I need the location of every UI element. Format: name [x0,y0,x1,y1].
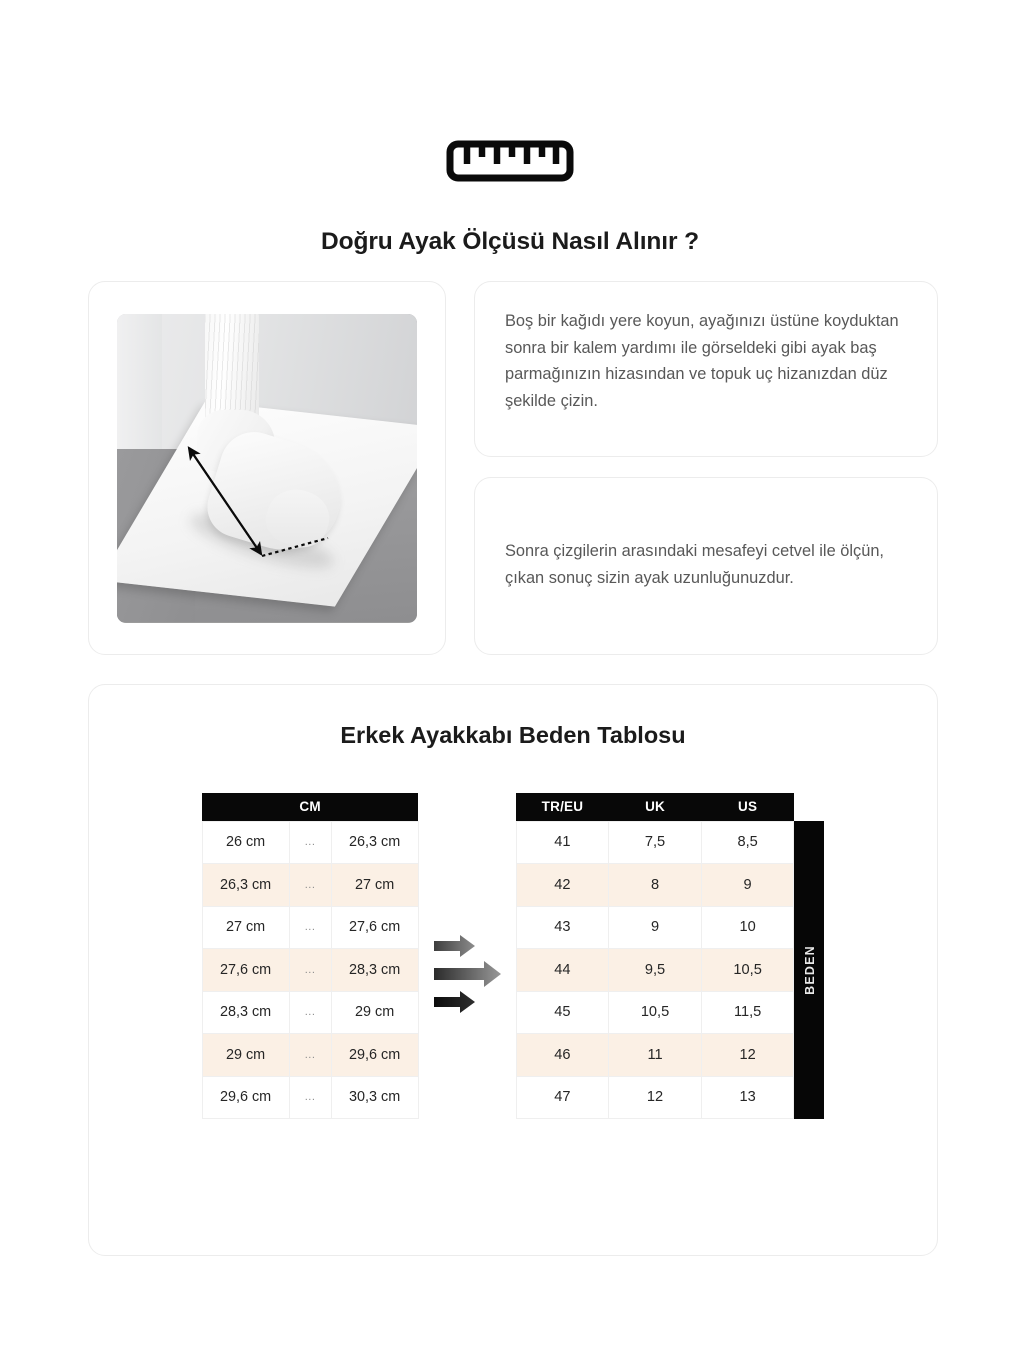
foot-measure-photo-card [88,281,446,655]
measurement-arrow-icon [117,314,417,623]
instruction-card-2: Sonra çizgilerin arasındaki mesafeyi cet… [474,477,938,655]
us-cell: 11,5 [701,991,794,1034]
cm-from-cell: 29 cm [202,1034,289,1077]
beden-vertical-bar: BEDEN [794,821,824,1119]
cm-from-cell: 29,6 cm [202,1076,289,1119]
table-row[interactable]: 27 cm ... 27,6 cm [202,906,418,949]
size-table-card: Erkek Ayakkabı Beden Tablosu CM 26 cm ..… [88,684,938,1256]
header-tr-eu: TR/EU [516,793,609,821]
size-table-body: 41 7,5 8,5 42 8 9 43 9 10 [516,821,794,1119]
cm-from-cell: 26 cm [202,821,289,864]
uk-cell: 9 [609,906,702,949]
table-row[interactable]: 26 cm ... 26,3 cm [202,821,418,864]
us-cell: 13 [701,1076,794,1119]
tr-eu-cell: 46 [516,1034,609,1077]
header-us: US [701,793,794,821]
beden-label: BEDEN [802,945,816,995]
cm-from-cell: 27,6 cm [202,949,289,992]
instruction-card-1: Boş bir kağıdı yere koyun, ayağınızı üst… [474,281,938,457]
cm-to-cell: 27,6 cm [331,906,418,949]
range-separator: ... [289,1076,331,1119]
table-row[interactable]: 27,6 cm ... 28,3 cm [202,949,418,992]
table-row[interactable]: 29 cm ... 29,6 cm [202,1034,418,1077]
us-cell: 8,5 [701,821,794,864]
us-cell: 10 [701,906,794,949]
us-cell: 10,5 [701,949,794,992]
instruction-text-1: Boş bir kağıdı yere koyun, ayağınızı üst… [505,308,907,414]
cm-to-cell: 28,3 cm [331,949,418,992]
table-row[interactable]: 42 8 9 [516,864,794,907]
range-separator: ... [289,821,331,864]
cm-to-cell: 30,3 cm [331,1076,418,1119]
range-separator: ... [289,949,331,992]
uk-cell: 12 [609,1076,702,1119]
tr-eu-cell: 41 [516,821,609,864]
size-table-title: Erkek Ayakkabı Beden Tablosu [89,722,937,749]
tr-eu-cell: 44 [516,949,609,992]
uk-cell: 10,5 [609,991,702,1034]
page-title: Doğru Ayak Ölçüsü Nasıl Alınır ? [0,228,1020,256]
table-row[interactable]: 43 9 10 [516,906,794,949]
uk-cell: 7,5 [609,821,702,864]
shoe-size-table: TR/EU UK US 41 7,5 8,5 42 8 9 [516,793,795,1119]
uk-cell: 11 [609,1034,702,1077]
tr-eu-cell: 43 [516,906,609,949]
size-tables-wrap: CM 26 cm ... 26,3 cm 26,3 cm ... 27 cm [89,793,937,1119]
instruction-text-column: Boş bir kağıdı yere koyun, ayağınızı üst… [474,281,938,655]
size-table-header-row: TR/EU UK US [516,793,794,821]
cm-range-table: CM 26 cm ... 26,3 cm 26,3 cm ... 27 cm [202,793,419,1119]
instruction-text-2: Sonra çizgilerin arasındaki mesafeyi cet… [505,538,907,591]
cm-from-cell: 27 cm [202,906,289,949]
arrows-right-icon [432,935,502,1013]
table-row[interactable]: 45 10,5 11,5 [516,991,794,1034]
ruler-icon-wrap [0,140,1020,186]
foot-measure-photo [117,314,417,623]
instructions-row: Boş bir kağıdı yere koyun, ayağınızı üst… [88,281,938,655]
uk-cell: 8 [609,864,702,907]
range-separator: ... [289,991,331,1034]
tr-eu-cell: 42 [516,864,609,907]
table-row[interactable]: 28,3 cm ... 29 cm [202,991,418,1034]
page-header: Doğru Ayak Ölçüsü Nasıl Alınır ? [0,0,1020,256]
table-row[interactable]: 41 7,5 8,5 [516,821,794,864]
tr-eu-cell: 45 [516,991,609,1034]
size-guide-page: Doğru Ayak Ölçüsü Nasıl Alınır ? [0,0,1020,1360]
table-row[interactable]: 46 11 12 [516,1034,794,1077]
uk-cell: 9,5 [609,949,702,992]
cm-to-cell: 27 cm [331,864,418,907]
us-cell: 9 [701,864,794,907]
cm-header-cell: CM [202,793,418,821]
table-row[interactable]: 26,3 cm ... 27 cm [202,864,418,907]
cm-table-body: 26 cm ... 26,3 cm 26,3 cm ... 27 cm 27 c… [202,821,418,1119]
table-row[interactable]: 44 9,5 10,5 [516,949,794,992]
cm-from-cell: 26,3 cm [202,864,289,907]
cm-to-cell: 29 cm [331,991,418,1034]
us-cell: 12 [701,1034,794,1077]
tr-eu-cell: 47 [516,1076,609,1119]
header-uk: UK [609,793,702,821]
range-separator: ... [289,1034,331,1077]
range-separator: ... [289,864,331,907]
cm-to-cell: 29,6 cm [331,1034,418,1077]
conversion-arrows [419,935,516,1013]
cm-to-cell: 26,3 cm [331,821,418,864]
range-separator: ... [289,906,331,949]
cm-from-cell: 28,3 cm [202,991,289,1034]
table-row[interactable]: 29,6 cm ... 30,3 cm [202,1076,418,1119]
ruler-icon [446,140,574,187]
table-row[interactable]: 47 12 13 [516,1076,794,1119]
cm-table-header-row: CM [202,793,418,821]
